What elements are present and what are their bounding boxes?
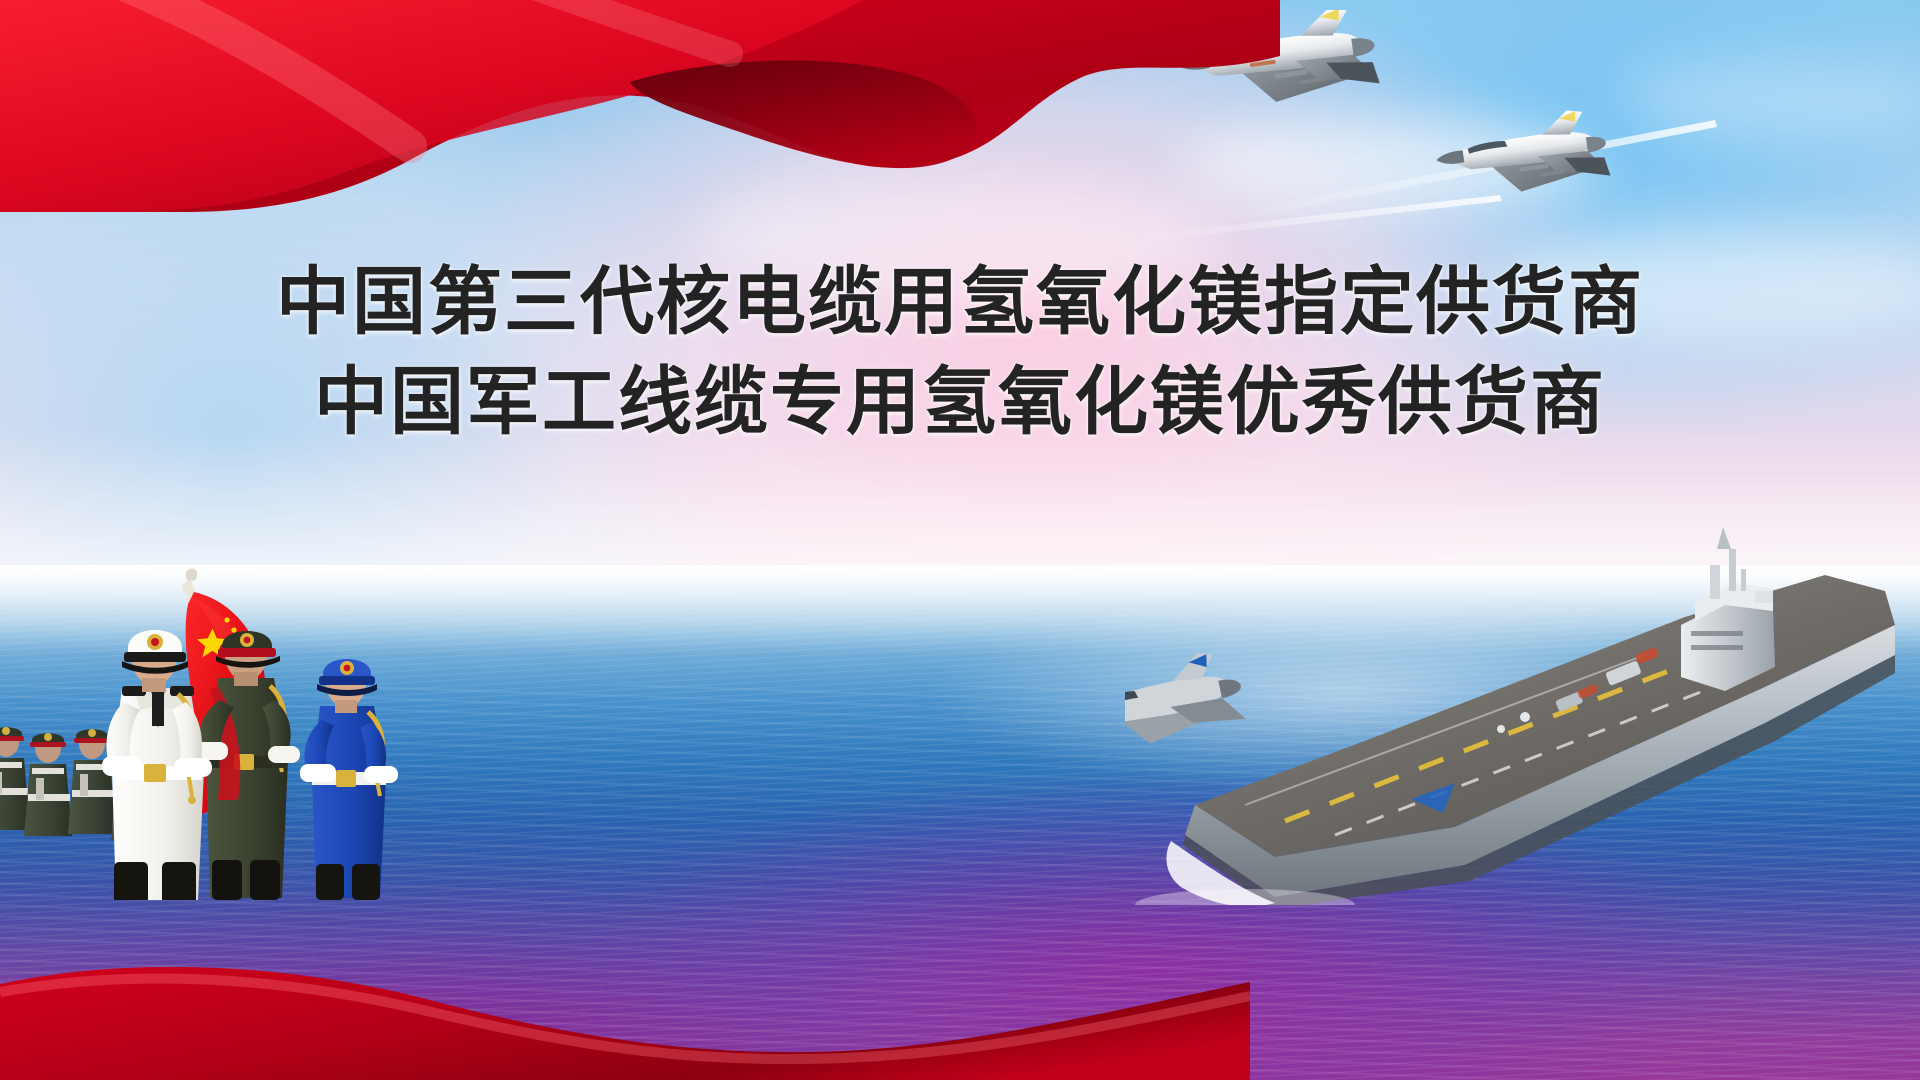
headline-block: 中国第三代核电缆用氢氧化镁指定供货商 中国军工线缆专用氢氧化镁优秀供货商 — [0, 252, 1920, 452]
honor-guard-airforce — [300, 659, 398, 900]
banner-stage: 中国第三代核电缆用氢氧化镁指定供货商 中国军工线缆专用氢氧化镁优秀供货商 — [0, 0, 1920, 1080]
carrier-island — [1681, 527, 1775, 691]
page-subtitle: 中国军工线缆专用氢氧化镁优秀供货商 — [0, 352, 1920, 452]
fighter-jet-wingman — [1432, 106, 1611, 203]
red-silk-flag — [0, 0, 1280, 220]
honor-guard-group — [0, 560, 502, 900]
page-title: 中国第三代核电缆用氢氧化镁指定供货商 — [0, 252, 1920, 352]
aircraft-carrier — [1125, 505, 1920, 905]
bottom-red-ribbon — [0, 930, 1250, 1080]
carrier-deck-jet — [1125, 646, 1249, 761]
